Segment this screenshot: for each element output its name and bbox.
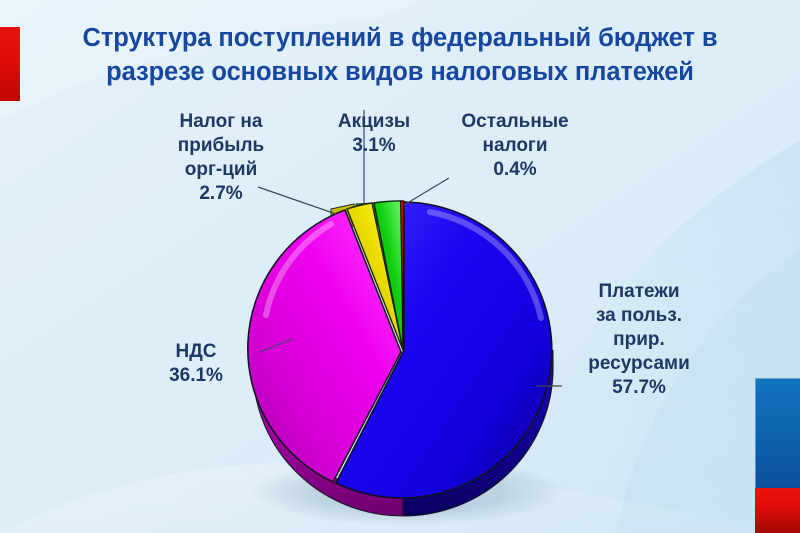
pie-label-excise: Акцизы 3.1% bbox=[318, 110, 430, 158]
slide-canvas: Структура поступлений в федеральный бюдж… bbox=[0, 0, 800, 533]
pie-label-resources: Платежи за польз. прир. ресурсами 57.7% bbox=[564, 280, 714, 400]
pie-chart bbox=[0, 0, 800, 533]
pie-label-vat: НДС 36.1% bbox=[130, 340, 262, 388]
pie-label-other: Остальные налоги 0.4% bbox=[440, 110, 590, 182]
pie-label-profit: Налог на прибыль орг-ций 2.7% bbox=[146, 110, 296, 206]
